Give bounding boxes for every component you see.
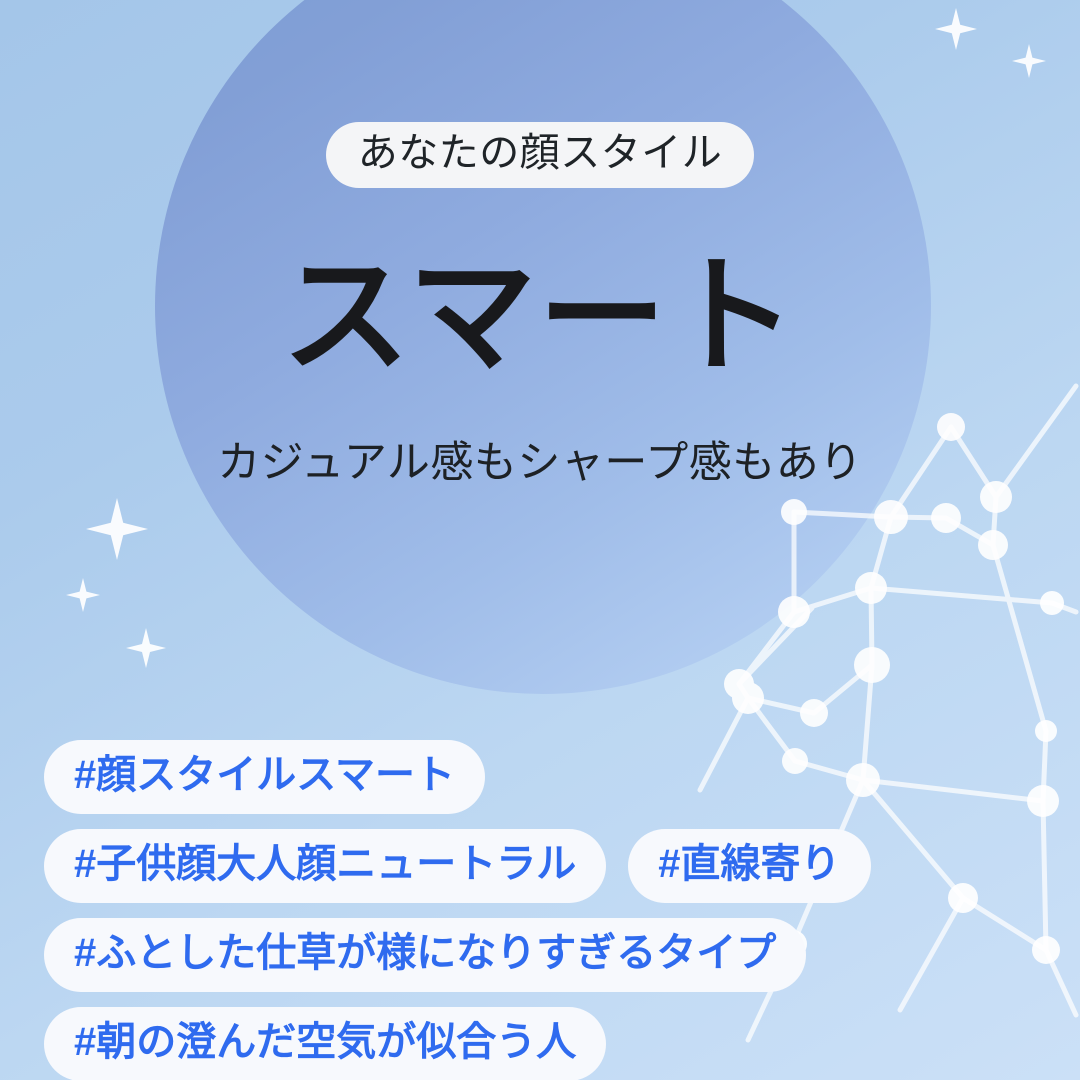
hashtag-pill[interactable]: #朝の澄んだ空気が似合う人 (44, 1007, 606, 1080)
hashtag-row: #子供顔大人顔ニュートラル #直線寄り (44, 829, 1044, 903)
hashtag-row: #ふとした仕草が様になりすぎるタイプ (44, 918, 1044, 992)
hashtag-row: #朝の澄んだ空気が似合う人 (44, 1007, 1044, 1080)
hashtag-row: #顔スタイルスマート (44, 740, 1044, 814)
page-title: スマート (282, 250, 798, 384)
result-card: あなたの顔スタイル スマート カジュアル感もシャープ感もあり #顔スタイルスマー… (0, 0, 1080, 1080)
hashtag-pill[interactable]: #子供顔大人顔ニュートラル (44, 829, 606, 903)
hashtag-pill[interactable]: #ふとした仕草が様になりすぎるタイプ (44, 918, 806, 992)
hero-section: あなたの顔スタイル スマート カジュアル感もシャープ感もあり (0, 0, 1080, 720)
hero-subtitle: カジュアル感もシャープ感もあり (217, 438, 863, 490)
hashtag-list: #顔スタイルスマート #子供顔大人顔ニュートラル #直線寄り #ふとした仕草が様… (44, 740, 1044, 1080)
hashtag-pill[interactable]: #直線寄り (628, 829, 870, 903)
style-badge: あなたの顔スタイル (326, 122, 755, 188)
hashtag-pill[interactable]: #顔スタイルスマート (44, 740, 485, 814)
